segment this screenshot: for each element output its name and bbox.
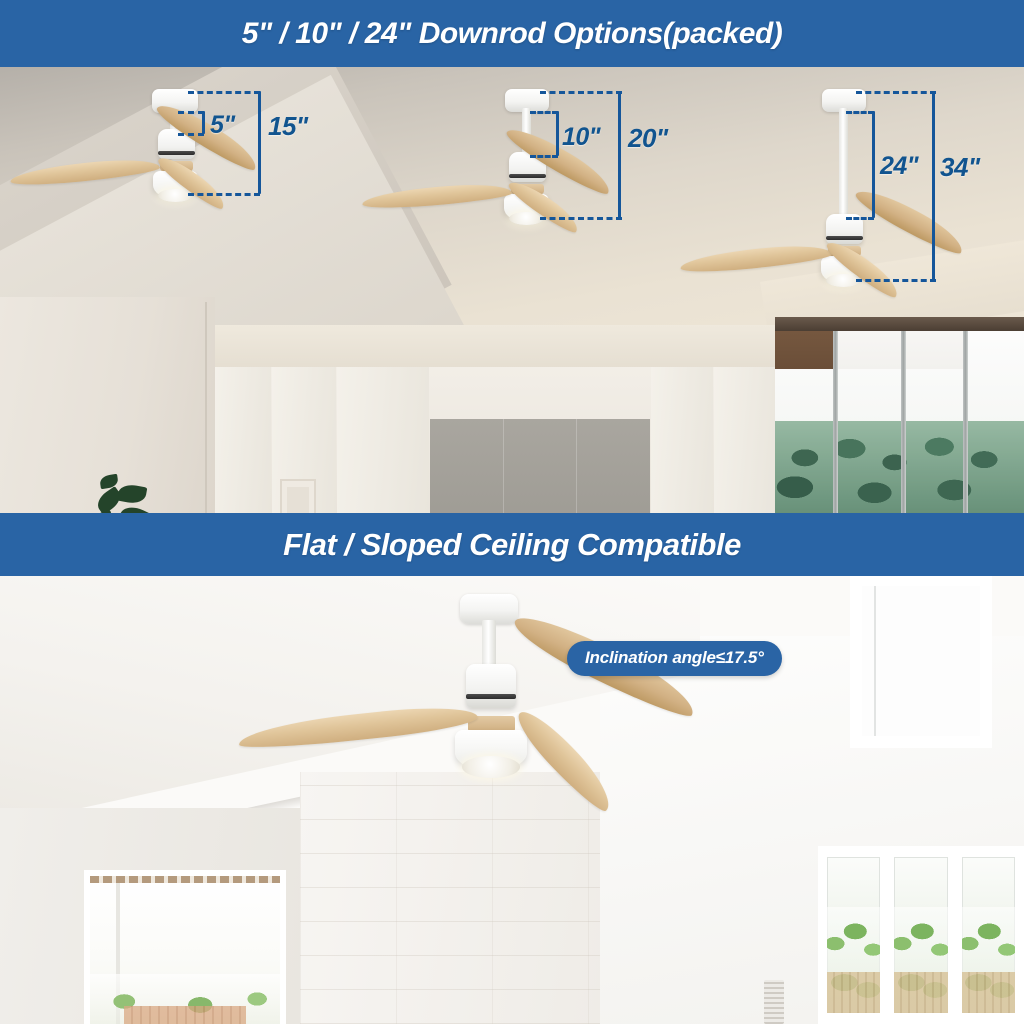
fan-24-inch [0,67,1024,513]
dim-bottom-guide-24 [846,217,874,220]
inclination-angle-badge: Inclination angle≤17.5° [567,641,782,676]
dim-label-24: 24" [880,152,918,181]
dim-label-34: 34" [940,152,980,183]
fan-blade-upper-right [852,182,969,259]
fan-blade-lower-right [510,704,620,817]
dim-line-24 [872,111,875,218]
downrod [482,620,496,666]
downrod [839,108,848,216]
motor-band [466,694,516,699]
banner-ceiling-compatible: Flat / Sloped Ceiling Compatible [0,513,1024,576]
banner-downrod-options: 5" / 10" / 24" Downrod Options(packed) [0,0,1024,67]
fan-blade-left [679,241,832,276]
sloped-ceiling-photo: Inclination angle≤17.5° [0,576,1024,1024]
fan-motor [466,664,516,708]
sloped-ceiling-fan [0,576,1024,1024]
banner-downrod-options-text: 5" / 10" / 24" Downrod Options(packed) [242,17,782,51]
wall-vent-grille [764,980,784,1024]
flat-ceiling-photo: 5" 15" 10" 20" [0,67,1024,513]
dim-line-34 [932,91,935,280]
dim-top-guide-24 [846,111,874,114]
motor-band [826,236,863,240]
banner-ceiling-compatible-text: Flat / Sloped Ceiling Compatible [283,527,741,563]
product-infographic: 5" / 10" / 24" Downrod Options(packed) [0,0,1024,1024]
fan-blade-left [237,702,478,753]
light-lens [462,756,520,778]
dim-bottom-guide-34 [856,279,936,282]
dim-top-guide-34 [856,91,936,94]
